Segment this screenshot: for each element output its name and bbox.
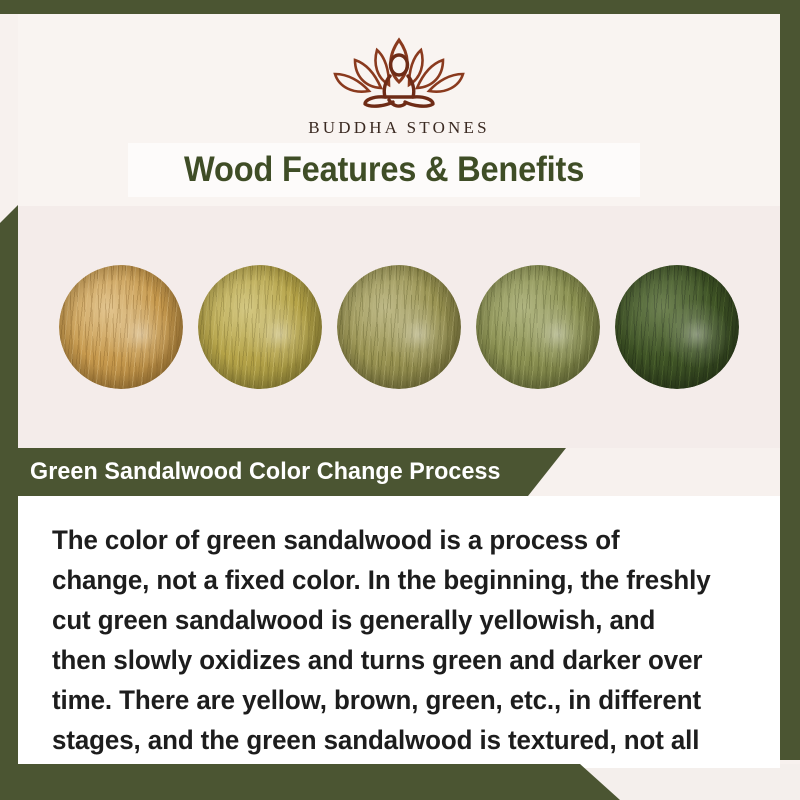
bead-stage-1 [59,265,183,389]
frame-right-bar [780,0,800,760]
brand-wordmark: BUDDHA STONES [308,118,490,138]
bead-stage-4 [476,265,600,389]
body-card: The color of green sandalwood is a proce… [18,496,780,768]
infographic-canvas: BUDDHA STONES Wood Features & Benefits [0,0,800,800]
bead-shading-1 [59,265,183,389]
bead-shading-2 [198,265,322,389]
section-banner: Green Sandalwood Color Change Process [18,448,566,496]
frame-top-bar [0,0,800,14]
brand-logo-block: BUDDHA STONES [308,30,490,138]
bead-stage-2 [198,265,322,389]
lotus-meditation-figure-icon [315,30,483,114]
page-title-plate: Wood Features & Benefits [128,143,640,197]
bead-gallery [18,206,780,448]
frame-left-bar [0,205,18,785]
frame-bottom-bar [0,764,620,800]
bead-shading-4 [476,265,600,389]
bead-stage-5 [615,265,739,389]
page-title: Wood Features & Benefits [184,150,584,190]
section-banner-label: Green Sandalwood Color Change Process [30,458,501,486]
bead-shading-5 [615,265,739,389]
bead-stage-3 [337,265,461,389]
bead-shading-3 [337,265,461,389]
body-paragraph: The color of green sandalwood is a proce… [52,520,712,800]
